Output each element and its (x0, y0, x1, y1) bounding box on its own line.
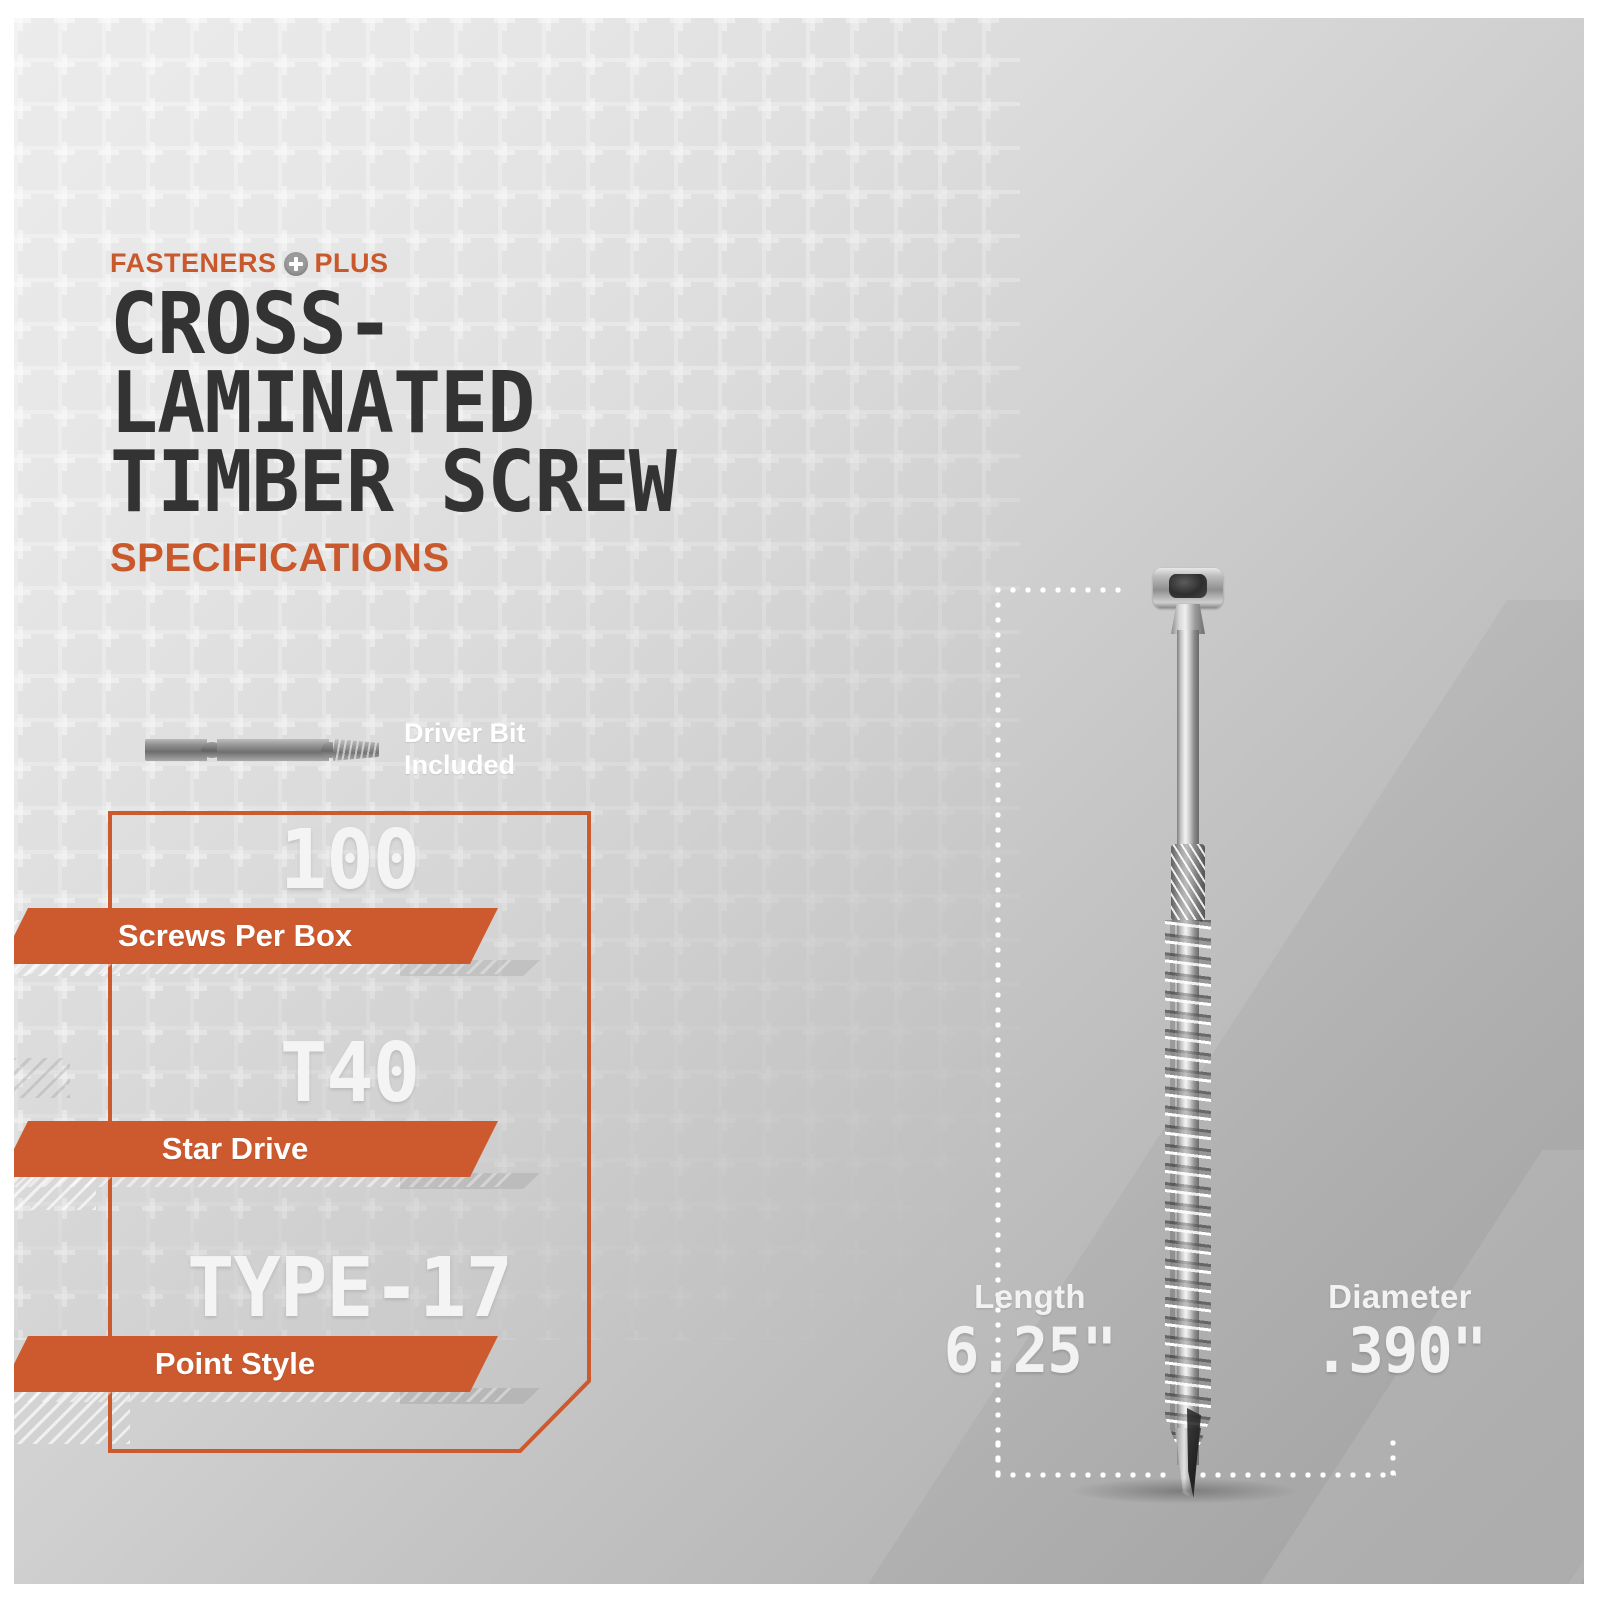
page-subtitle: SPECIFICATIONS (110, 536, 712, 581)
spec-row-point-style: TYPE-17 Point Style (0, 1248, 600, 1398)
dimension-length: Length 6.25" (905, 1278, 1155, 1383)
spec-row-star-drive: T40 Star Drive (0, 1033, 600, 1183)
page-frame-right (1584, 0, 1600, 1600)
spec-row-screws-per-box: 100 Screws Per Box (0, 820, 600, 970)
product-dimension-block: Length 6.25" Diameter .390" (950, 540, 1570, 1540)
spec-value-point-style: TYPE-17 (118, 1248, 582, 1330)
screw-star-drive-recess (1169, 574, 1207, 598)
dimension-diameter: Diameter .390" (1250, 1278, 1550, 1383)
page-frame-left (0, 0, 14, 1600)
dimension-diameter-name: Diameter (1250, 1278, 1550, 1316)
bit-torx-tip (333, 739, 379, 761)
spec-value-screws-per-box: 100 (118, 820, 582, 902)
screw-threads-front (1165, 920, 1211, 1460)
page-frame-bottom (0, 1584, 1600, 1600)
screw-knurled-shoulder (1171, 844, 1205, 922)
screw-head-plus-icon (284, 252, 308, 276)
dimension-length-name: Length (905, 1278, 1155, 1316)
spec-label-point-style: Point Style (0, 1336, 498, 1392)
screw-ground-shadow (1070, 1478, 1300, 1504)
torx-driver-bit-icon (145, 732, 380, 768)
bit-hex-shank (145, 739, 207, 761)
header-block: FASTENERS PLUS CROSS- LAMINATED TIMBER S… (110, 248, 712, 581)
diameter-guide-tick (1390, 1440, 1396, 1476)
driver-bit-block: Driver Bit Included (145, 718, 526, 782)
spec-value-star-drive: T40 (118, 1033, 582, 1115)
bit-body (217, 739, 329, 761)
dimension-diameter-value: .390" (1258, 1318, 1543, 1383)
spec-label-screws-per-box: Screws Per Box (0, 908, 498, 964)
screw-smooth-shank (1177, 630, 1199, 870)
spec-banner-screws-per-box: Screws Per Box (0, 908, 600, 970)
spec-label-star-drive: Star Drive (0, 1121, 498, 1177)
spec-banner-star-drive: Star Drive (0, 1121, 600, 1183)
length-guide-top (995, 587, 1123, 593)
page-frame-top (0, 0, 1600, 18)
spec-banner-point-style: Point Style (0, 1336, 600, 1398)
length-guide-tick (995, 1440, 1001, 1476)
page-title: CROSS- LAMINATED TIMBER SCREW (110, 285, 676, 522)
driver-bit-label: Driver Bit Included (404, 718, 526, 782)
dimension-length-value: 6.25" (911, 1318, 1149, 1383)
infographic-canvas: FASTENERS PLUS CROSS- LAMINATED TIMBER S… (0, 0, 1600, 1600)
